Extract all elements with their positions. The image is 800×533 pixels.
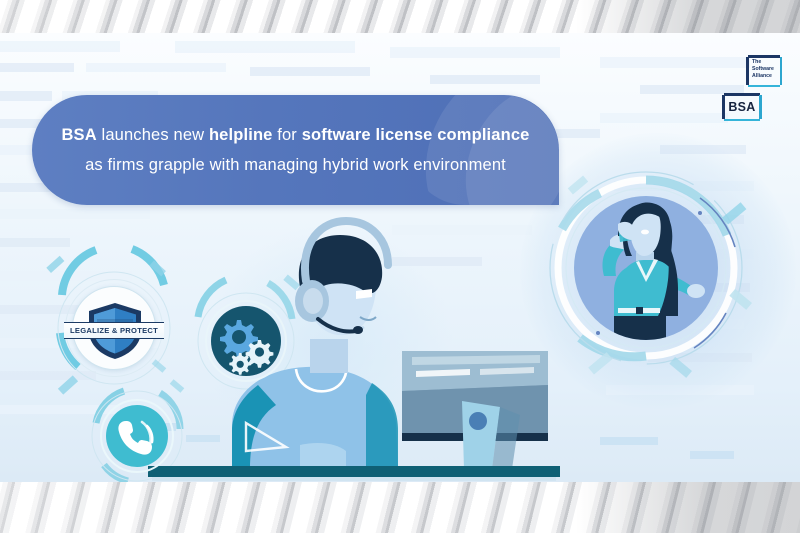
bsa-logo-mark: BSA [720,93,764,121]
promo-graphic: LEGALIZE & PROTECT [0,0,800,533]
desk-surface [148,466,560,477]
desktop-monitor [402,351,548,469]
tagline-left-rule [746,57,749,85]
tagline-right-rule [780,57,783,85]
tagline-line-1: The [752,59,778,66]
legalize-and-protect-badge: LEGALIZE & PROTECT [62,276,166,380]
phone-ringing-icon [106,405,168,467]
headline-helpline: helpline [209,126,273,144]
headline-compliance: software license compliance [302,126,530,144]
shield-badge-ribbon: LEGALIZE & PROTECT [64,322,164,339]
gears-badge-disc [211,306,281,376]
headline-bsa: BSA [61,126,96,144]
tagline-text: The Software Alliance [752,59,778,80]
gears-icon [211,306,281,376]
illustration-canvas: LEGALIZE & PROTECT [0,33,800,482]
phone-badge-disc [106,405,168,467]
tagline-line-2: Software [752,66,778,73]
headline-banner: BSA launches new helpline for software l… [32,95,559,205]
tagline-top-rule [748,55,780,58]
headline-launches: launches new [97,126,209,144]
bottom-blinds-border [0,482,800,533]
headline-for: for [273,126,302,144]
shield-badge-ribbon-text: LEGALIZE & PROTECT [70,326,158,335]
headline-line-1: BSA launches new helpline for software l… [61,120,529,150]
tagline-line-3: Alliance [752,73,778,80]
bsa-logo: The Software Alliance BSA [720,55,784,121]
headline-line-2: as firms grapple with managing hybrid wo… [85,150,506,180]
bottom-blinds-shading [0,482,800,533]
gears-badge [203,298,289,384]
tagline-bottom-rule [748,85,780,88]
top-blinds-border [0,0,800,33]
phone-badge [98,397,176,475]
top-blinds-shading [0,0,800,33]
bsa-logo-tagline: The Software Alliance [744,55,784,87]
mark-text: BSA [720,93,764,121]
